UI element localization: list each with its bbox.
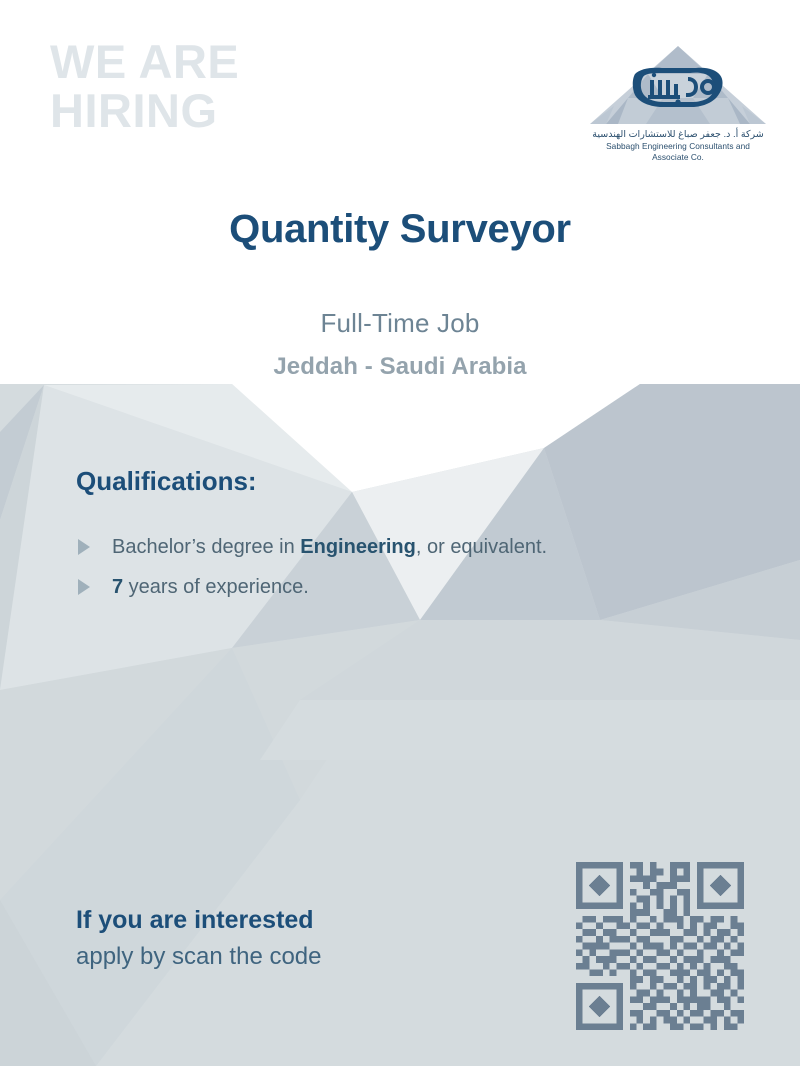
qualification-text-prefix: Bachelor’s degree in [112,536,300,558]
job-title: Quantity Surveyor [0,206,800,252]
job-title-block: Quantity Surveyor Full-Time Job Jeddah -… [0,206,800,381]
triangle-right-icon [78,539,90,555]
qualification-text-emphasis: 7 [112,576,123,598]
qualification-item: Bachelor’s degree in Engineering, or equ… [76,533,716,561]
qualification-text-suffix: years of experience. [123,576,309,598]
poster-header: WE ARE HIRING [0,0,800,180]
qr-code-icon[interactable] [576,862,744,1030]
qr-code-container[interactable] [576,862,744,1030]
call-to-action: If you are interested apply by scan the … [76,905,322,972]
job-location: Jeddah - Saudi Arabia [0,353,800,381]
we-are-hiring-eyebrow: WE ARE HIRING [50,38,239,136]
qualifications-section: Qualifications: Bachelor’s degree in Eng… [76,466,716,613]
triangle-right-icon [78,579,90,595]
qualification-item: 7 years of experience. [76,573,716,601]
qualifications-list: Bachelor’s degree in Engineering, or equ… [76,533,716,601]
company-name-english: Sabbagh Engineering Consultants and Asso… [588,141,768,163]
company-name-arabic: شركة أ. د. جعفر صباغ للاستشارات الهندسية [588,129,768,141]
qualification-text-emphasis: Engineering [300,536,416,558]
qualification-text-suffix: , or equivalent. [416,536,547,558]
cta-headline: If you are interested [76,905,322,936]
job-poster: WE ARE HIRING [0,0,800,1066]
qualifications-heading: Qualifications: [76,466,716,497]
sabbagh-pyramid-logo-icon [588,44,768,126]
cta-subline: apply by scan the code [76,942,322,972]
employment-type: Full-Time Job [0,308,800,339]
company-logo-block: شركة أ. د. جعفر صباغ للاستشارات الهندسية… [588,44,768,162]
